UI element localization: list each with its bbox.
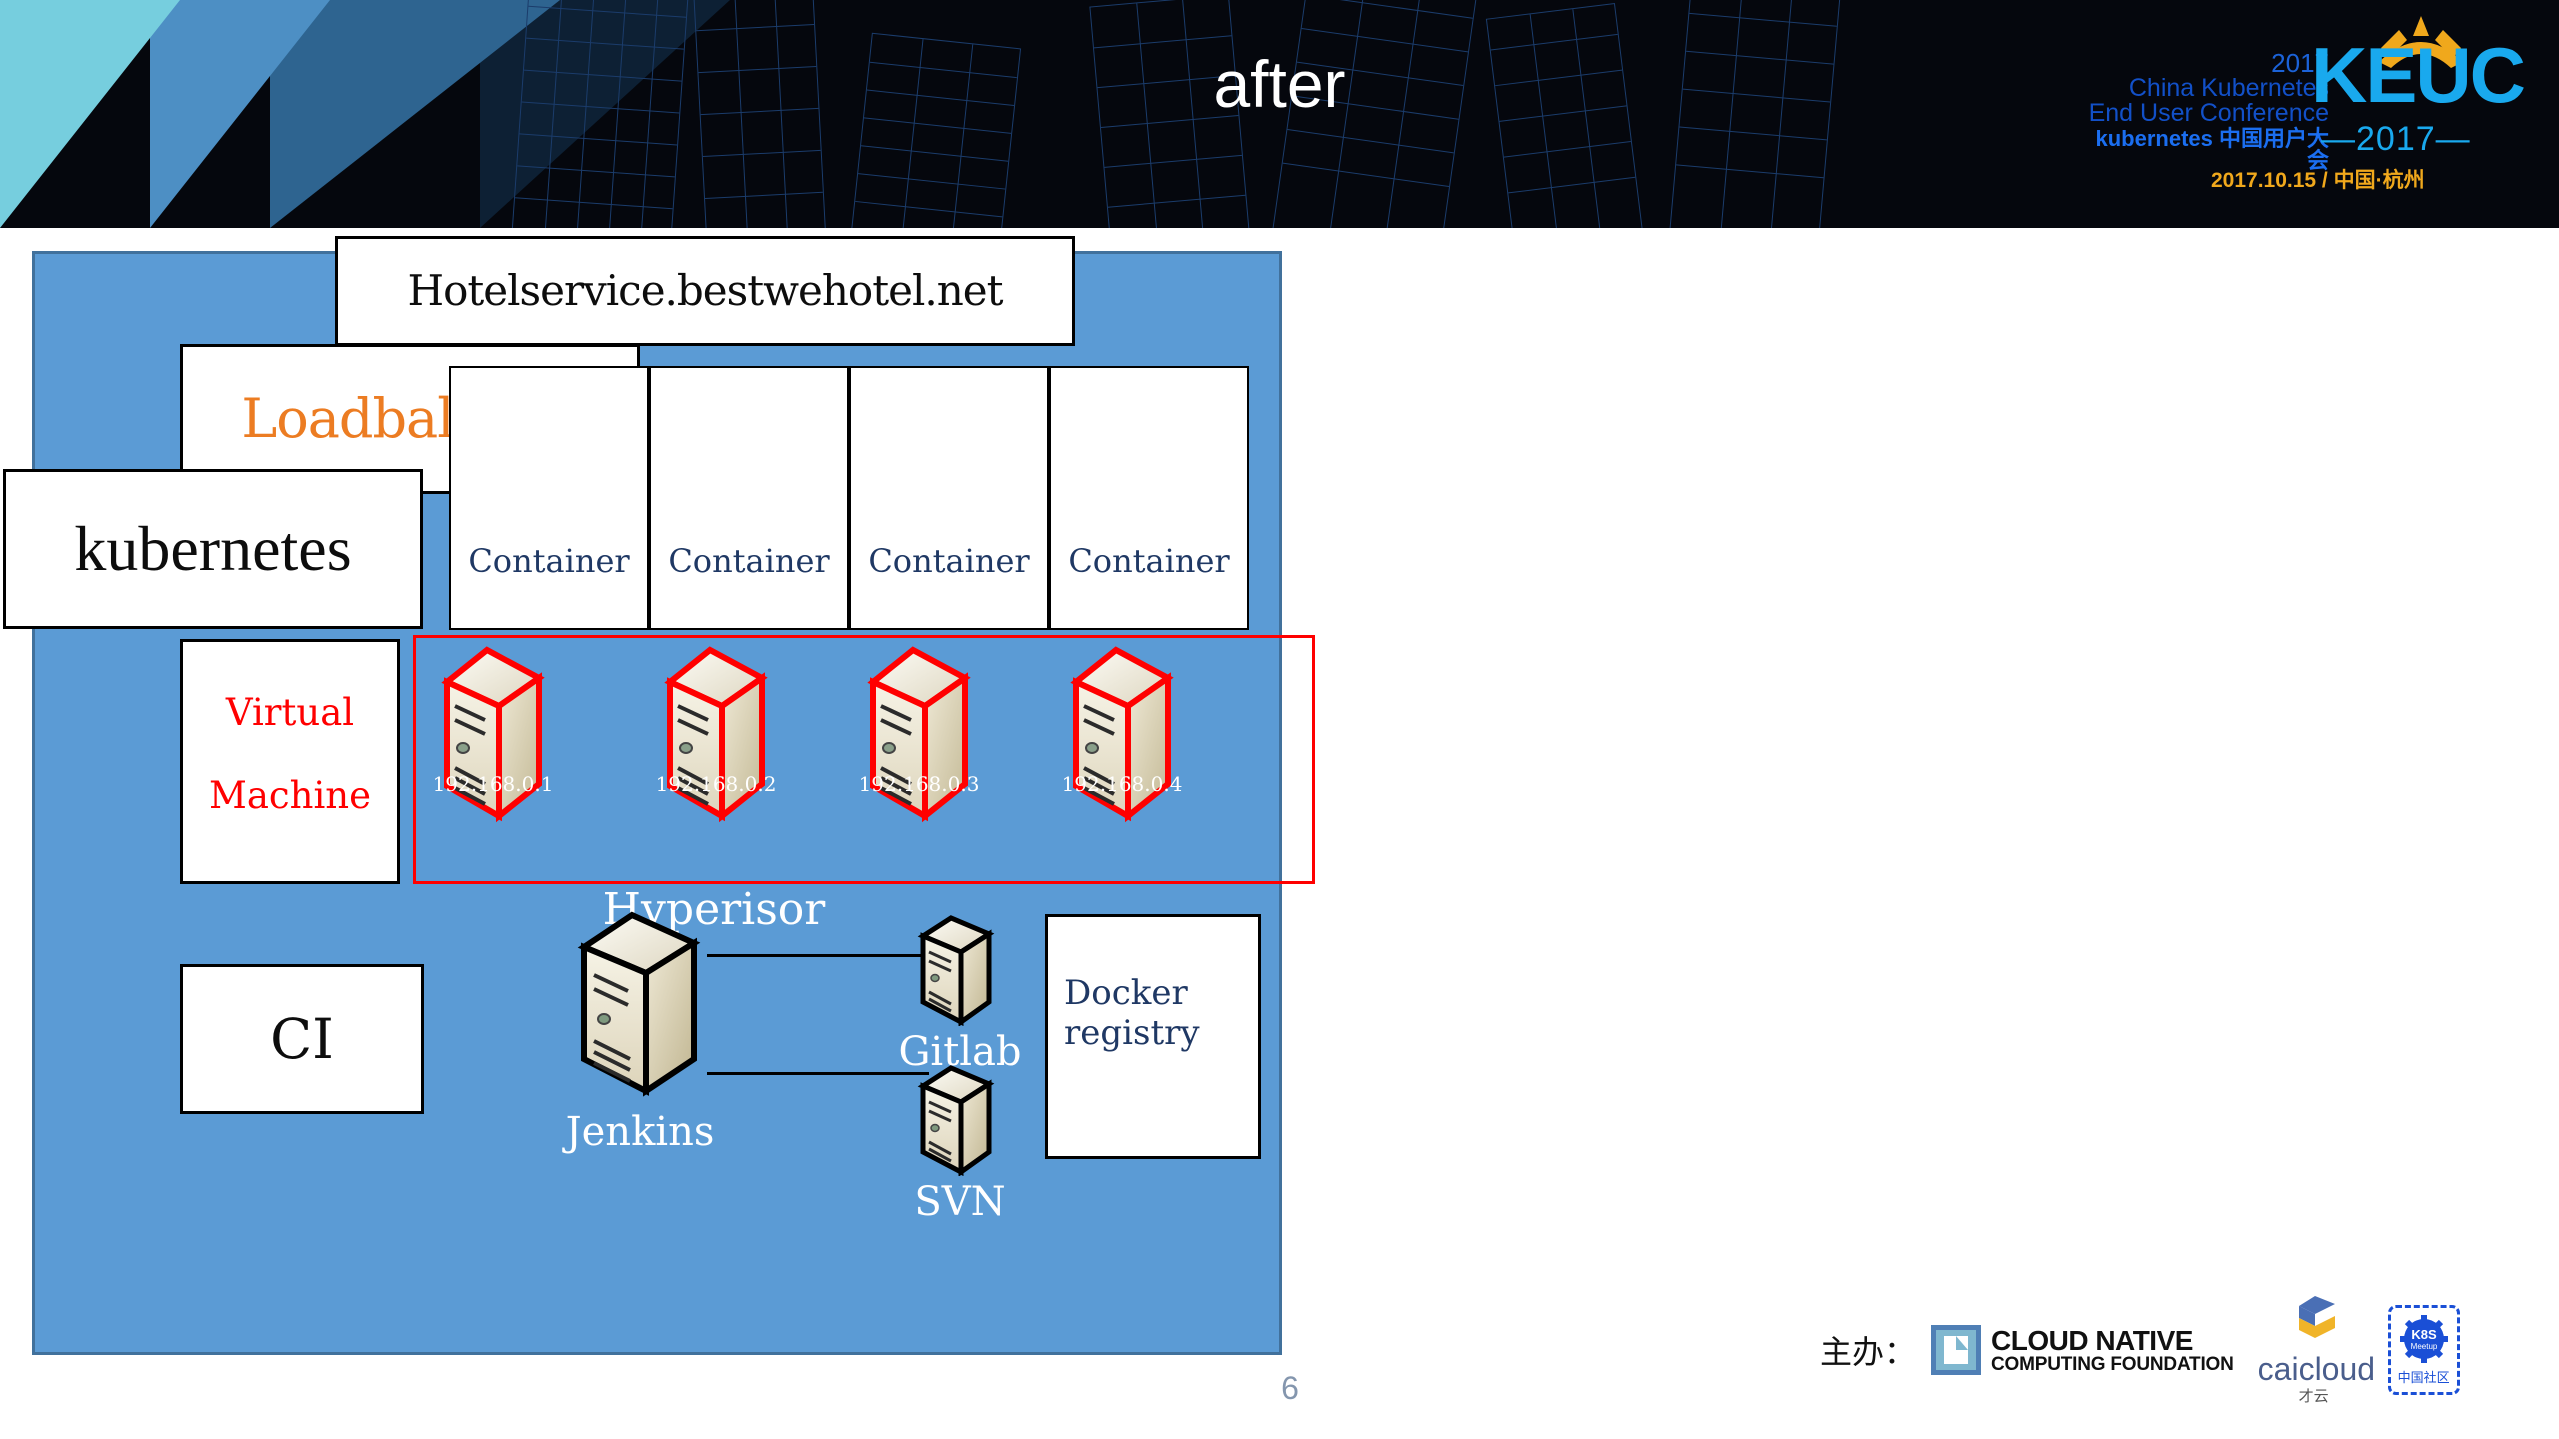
container-row: Container Container Container Container: [449, 366, 1249, 630]
ci-box: CI: [180, 964, 424, 1114]
jenkins-label: Jenkins: [490, 1109, 790, 1155]
container-cell: Container: [649, 366, 849, 630]
slide-canvas: after 2017 China Kubernetes End User Con…: [0, 0, 2559, 1439]
gitlab-server-icon: [915, 914, 997, 1026]
kubernetes-label: kubernetes: [6, 472, 420, 626]
vm-slot: 192.168.0.3: [859, 644, 979, 829]
svn-label: SVN: [825, 1179, 1095, 1225]
cncf-line-2: COMPUTING FOUNDATION: [1991, 1355, 2234, 1374]
k8s-helm-icon: K8S Meetup: [2396, 1311, 2452, 1367]
svn-server-icon: [915, 1064, 997, 1176]
container-cell: Container: [449, 366, 649, 630]
keuc-wordmark: KEUC: [2311, 40, 2524, 112]
vm-label-line2: Machine: [183, 777, 397, 814]
cncf-mark-icon: [1930, 1324, 1982, 1376]
cncf-line-1: CLOUD NATIVE: [1991, 1327, 2234, 1355]
ci-label: CI: [183, 967, 421, 1111]
vm-slot: 192.168.0.1: [433, 644, 553, 829]
container-cell: Container: [849, 366, 1049, 630]
cncf-wordmark: CLOUD NATIVE COMPUTING FOUNDATION: [1991, 1327, 2234, 1374]
page-number: 6: [1230, 1370, 1350, 1407]
k8s-meetup-label-cn: 中国社区: [2391, 1367, 2457, 1386]
vm-ip-label: 192.168.0.2: [624, 772, 808, 796]
vm-label-line1: Virtual: [183, 694, 397, 731]
keuc-subtitle-block: 2017 China Kubernetes End User Conferenc…: [2081, 50, 2329, 172]
server-tower-icon: [656, 644, 776, 824]
vm-ip-label: 192.168.0.3: [827, 772, 1011, 796]
jenkins-server-icon: [570, 909, 710, 1099]
keuc-line-2: End User Conference: [2081, 101, 2329, 126]
cncf-logo: CLOUD NATIVE COMPUTING FOUNDATION: [1930, 1324, 2234, 1376]
caicloud-wordmark-cn: 才云: [2258, 1385, 2370, 1406]
jenkins-gitlab-connector: [707, 954, 929, 957]
vm-ip-label: 192.168.0.1: [401, 772, 585, 796]
docker-registry-box: Docker registry: [1045, 914, 1261, 1159]
keuc-brand-year: —2017—: [2321, 120, 2471, 159]
header-banner: after 2017 China Kubernetes End User Con…: [0, 0, 2559, 228]
architecture-panel: Hotelservice.bestwehotel.net Loadbalance: [32, 251, 1282, 1355]
vm-ip-label: 192.168.0.4: [1030, 772, 1214, 796]
container-label: Container: [451, 542, 647, 580]
keuc-date-location: 2017.10.15 / 中国·杭州: [2211, 164, 2425, 194]
vm-slot: 192.168.0.2: [656, 644, 776, 829]
server-tower-icon: [1062, 644, 1182, 824]
caicloud-logo: caicloud 才云: [2258, 1294, 2370, 1406]
caicloud-wordmark: caicloud: [2258, 1353, 2370, 1385]
k8s-meetup-logo: K8S Meetup 中国社区: [2388, 1305, 2460, 1395]
keuc-logo: 2017 China Kubernetes End User Conferenc…: [2081, 12, 2511, 212]
registry-label-line2: registry: [1048, 1013, 1258, 1053]
domain-box: Hotelservice.bestwehotel.net: [335, 236, 1075, 346]
keuc-year: 2017: [2081, 50, 2329, 76]
vm-slot: 192.168.0.4: [1062, 644, 1182, 829]
container-label: Container: [651, 542, 847, 580]
domain-label: Hotelservice.bestwehotel.net: [338, 239, 1072, 343]
kubernetes-box: kubernetes: [3, 469, 423, 629]
server-tower-icon: [433, 644, 553, 824]
container-label: Container: [1051, 542, 1247, 580]
server-tower-icon: [859, 644, 979, 824]
host-label: 主办：: [1820, 1327, 1916, 1373]
sponsor-footer: 主办： CLOUD NATIVE COMPUTING FOUNDATION ca…: [1820, 1290, 2540, 1410]
caicloud-mark-icon: [2285, 1294, 2343, 1346]
virtual-machine-box: Virtual Machine: [180, 639, 400, 884]
vm-server-row: 192.168.0.1 192.168.0.2: [413, 644, 1293, 884]
container-label: Container: [851, 542, 1047, 580]
svg-text:K8S: K8S: [2411, 1327, 2437, 1342]
keuc-line-1: China Kubernetes: [2081, 76, 2329, 101]
registry-label-line1: Docker: [1048, 973, 1258, 1013]
container-cell: Container: [1049, 366, 1249, 630]
svg-text:Meetup: Meetup: [2410, 1342, 2437, 1351]
